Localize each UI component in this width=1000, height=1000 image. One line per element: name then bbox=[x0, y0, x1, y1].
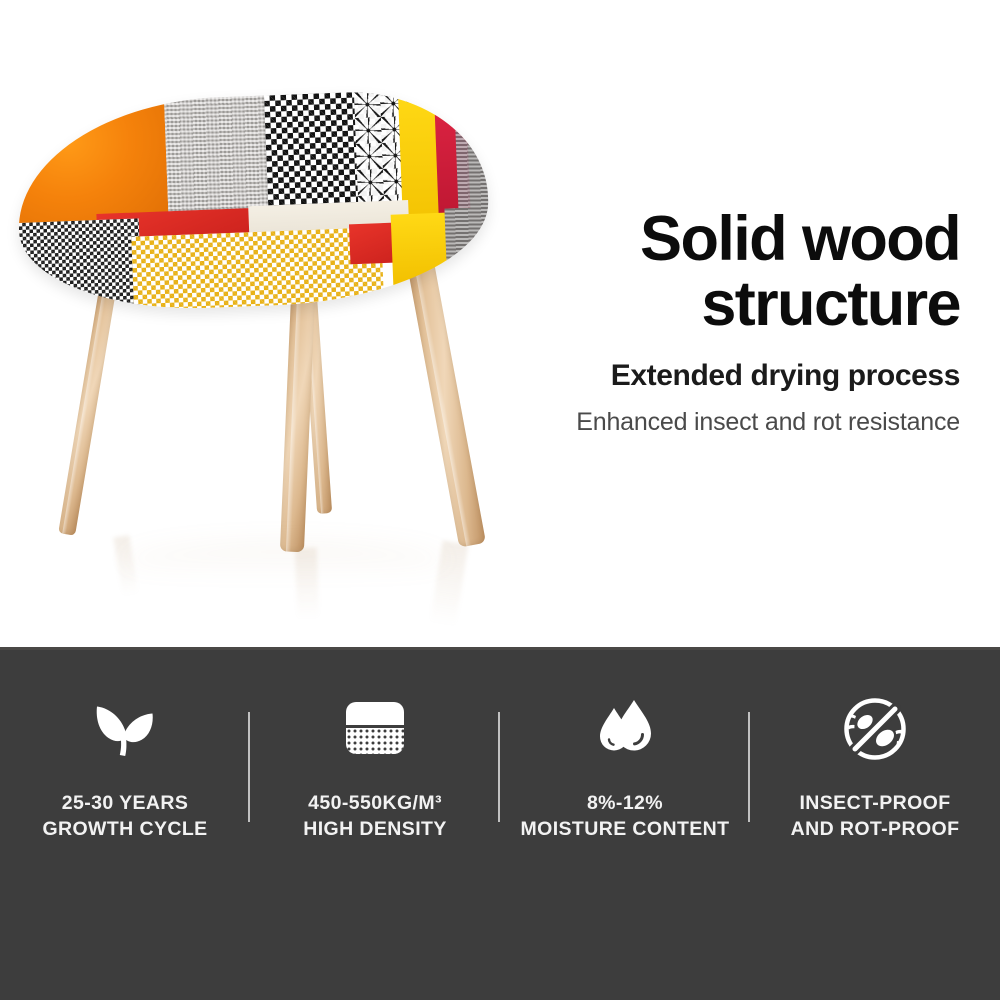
headline: Solid wood structure bbox=[400, 210, 960, 333]
feature-item-high-density: 450-550KG/M³ HIGH DENSITY bbox=[250, 693, 500, 893]
leaf-sprout-icon bbox=[89, 693, 161, 765]
no-insect-icon bbox=[840, 693, 910, 765]
subheadline: Extended drying process bbox=[400, 359, 960, 393]
headline-line-2: structure bbox=[400, 275, 960, 334]
headline-line-1: Solid wood bbox=[640, 204, 960, 274]
feature-label-line-2: MOISTURE CONTENT bbox=[521, 817, 730, 843]
feature-label: 8%-12% MOISTURE CONTENT bbox=[521, 791, 730, 842]
feature-item-insect-proof: INSECT-PROOF AND ROT-PROOF bbox=[750, 693, 1000, 893]
feature-label-line-1: 8%-12% bbox=[521, 791, 730, 817]
hero-copy: Solid wood structure Extended drying pro… bbox=[400, 210, 960, 437]
feature-list: 25-30 YEARS GROWTH CYCLE bbox=[0, 693, 1000, 893]
feature-item-moisture-content: 8%-12% MOISTURE CONTENT bbox=[500, 693, 750, 893]
water-droplets-icon bbox=[590, 693, 660, 765]
seat-reflection bbox=[120, 540, 450, 580]
feature-label-line-1: 450-550KG/M³ bbox=[303, 791, 446, 817]
tagline: Enhanced insect and rot resistance bbox=[400, 408, 960, 437]
feature-label: 450-550KG/M³ HIGH DENSITY bbox=[303, 791, 446, 842]
feature-label-line-2: AND ROT-PROOF bbox=[791, 817, 960, 843]
feature-item-growth-cycle: 25-30 YEARS GROWTH CYCLE bbox=[0, 693, 250, 893]
feature-label-line-2: HIGH DENSITY bbox=[303, 817, 446, 843]
feature-bar-top-edge bbox=[0, 647, 1000, 650]
feature-label: 25-30 YEARS GROWTH CYCLE bbox=[42, 791, 207, 842]
feature-label-line-1: 25-30 YEARS bbox=[42, 791, 207, 817]
feature-label: INSECT-PROOF AND ROT-PROOF bbox=[791, 791, 960, 842]
feature-bar: 25-30 YEARS GROWTH CYCLE bbox=[0, 647, 1000, 1000]
feature-label-line-2: GROWTH CYCLE bbox=[42, 817, 207, 843]
feature-label-line-1: INSECT-PROOF bbox=[791, 791, 960, 817]
product-feature-banner: Solid wood structure Extended drying pro… bbox=[0, 0, 1000, 1000]
density-block-icon bbox=[340, 693, 410, 765]
hero-section: Solid wood structure Extended drying pro… bbox=[0, 0, 1000, 647]
